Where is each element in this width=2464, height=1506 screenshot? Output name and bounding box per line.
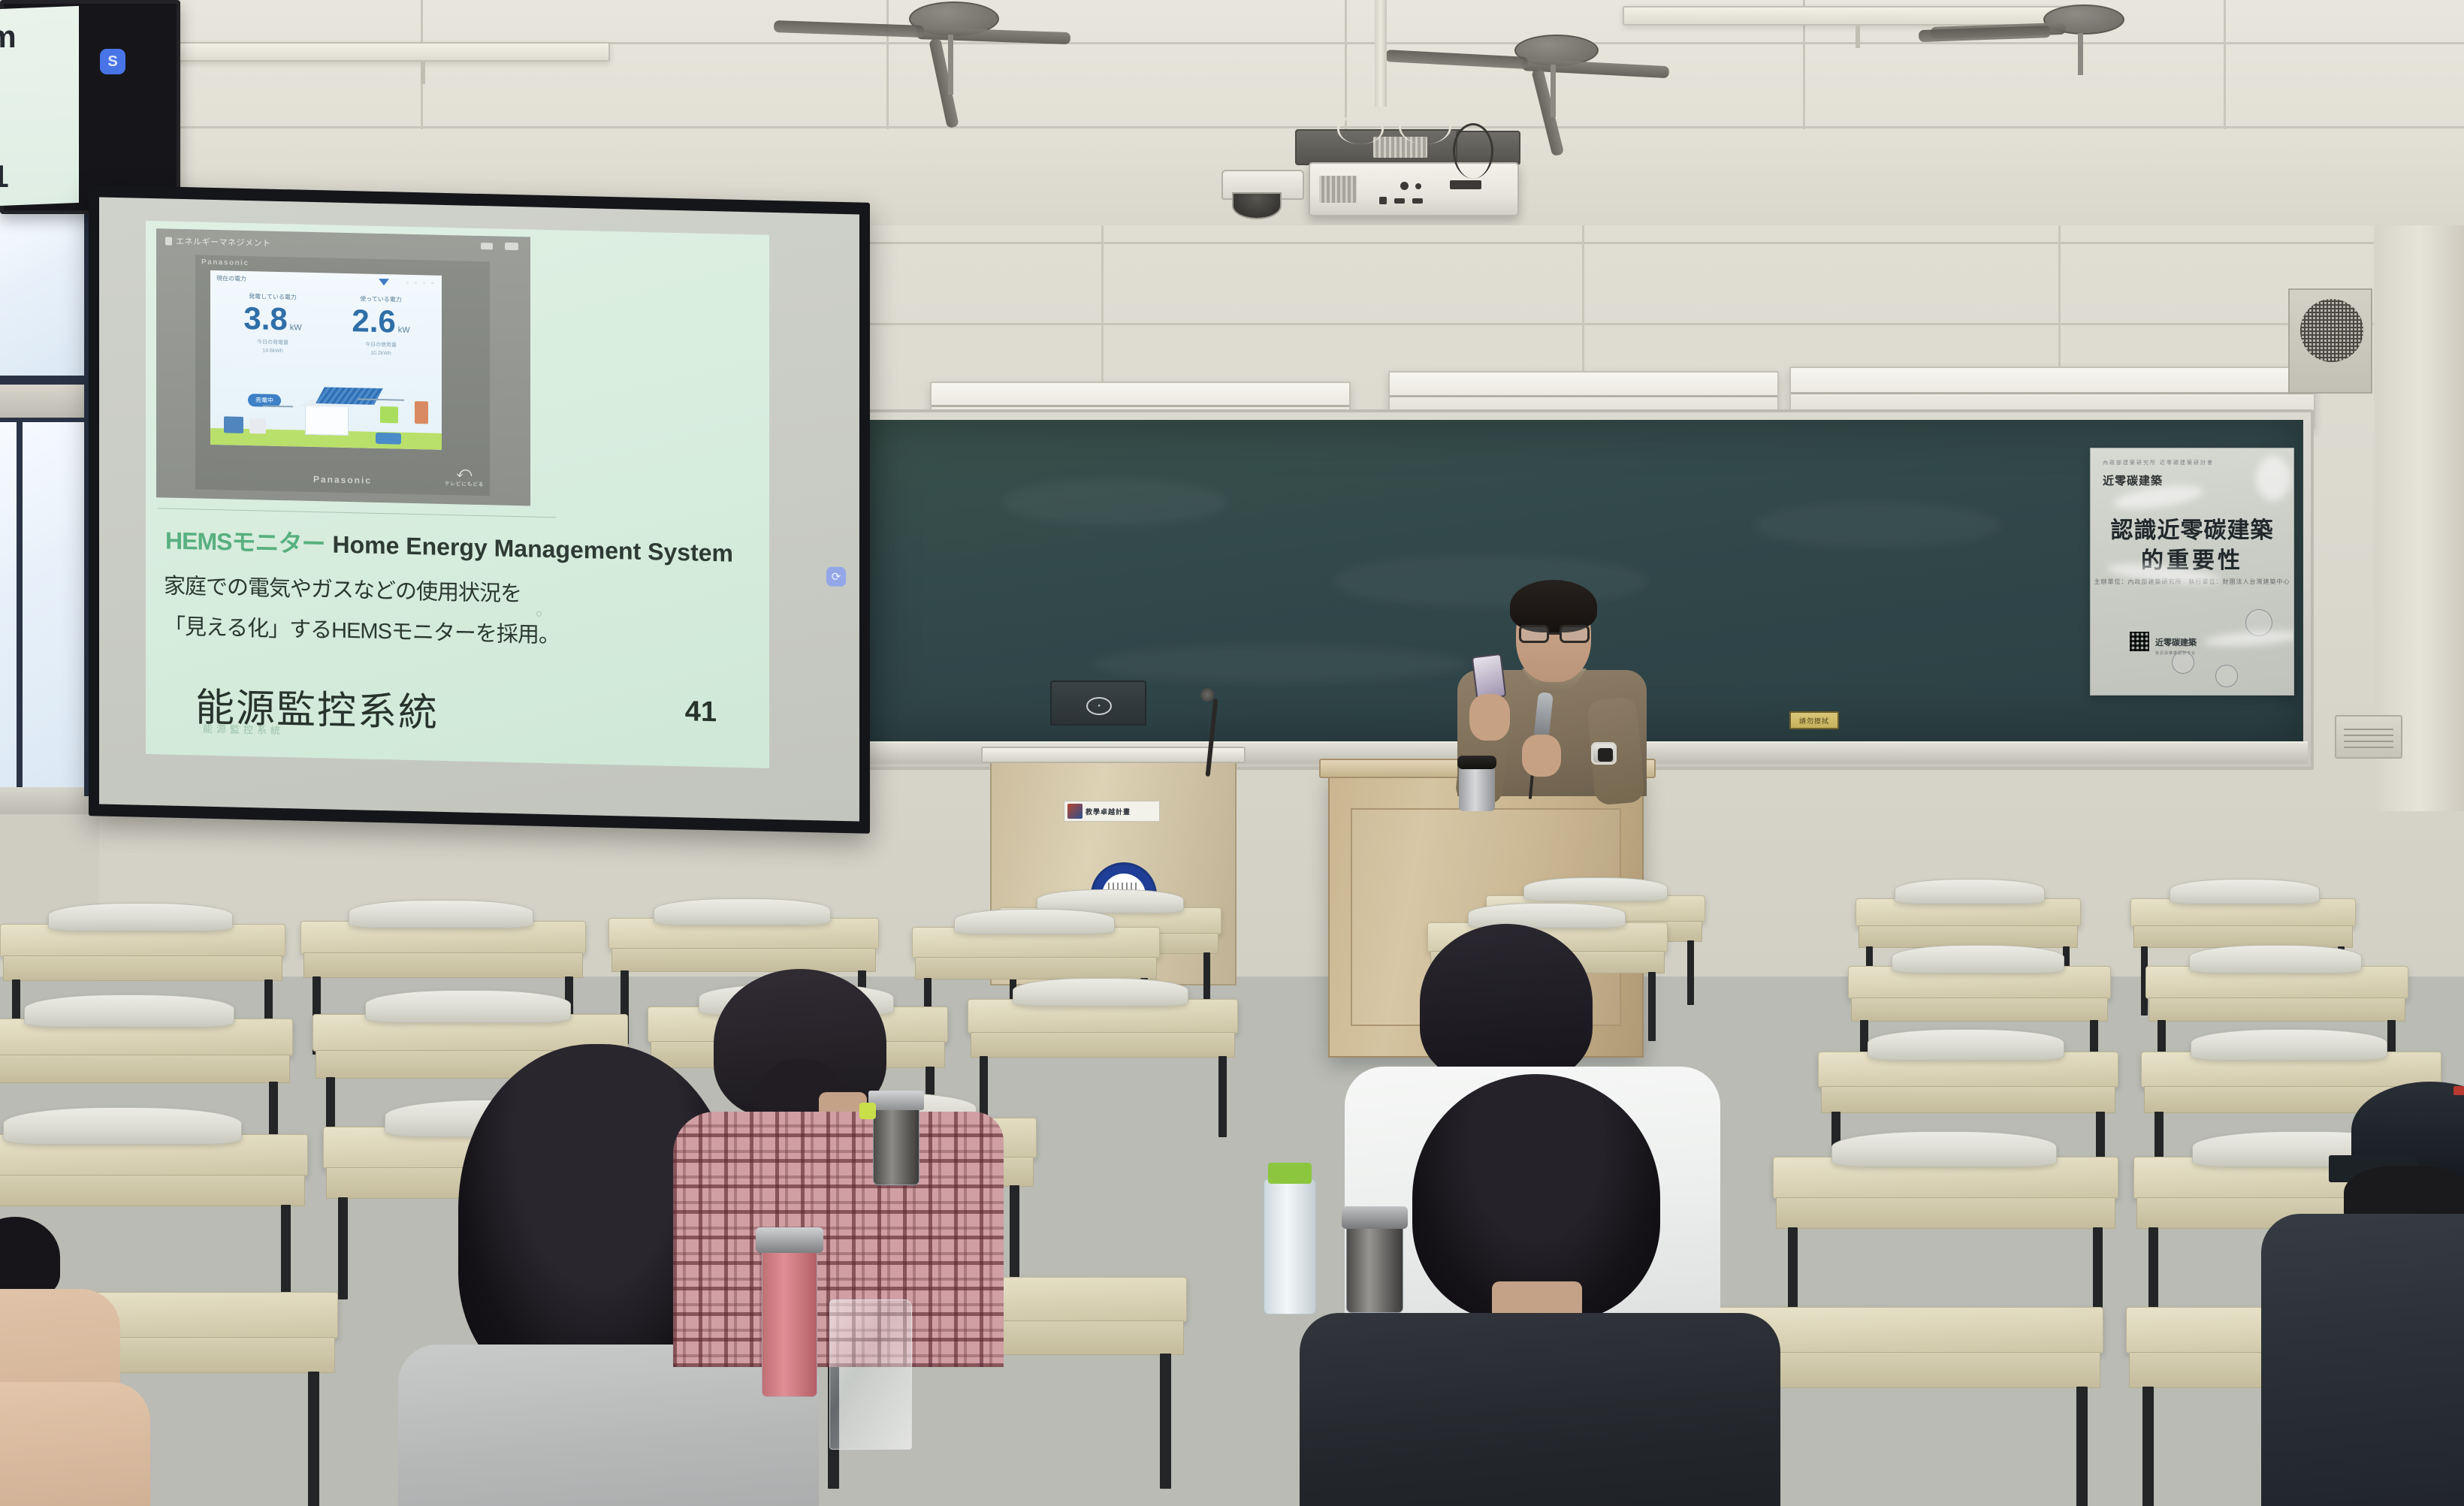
microphone-head-icon — [1200, 688, 1214, 702]
slide-body-line1: 家庭での電気やガスなどの使用状況を — [164, 568, 521, 608]
laptop-sticker-icon: ● — [1086, 697, 1112, 715]
projector-cable-white — [1337, 114, 1384, 144]
tumbler-lid — [756, 1227, 823, 1253]
projector-mount-pole — [1375, 0, 1387, 107]
laptop[interactable]: ● — [1050, 681, 1146, 726]
screen-app-badge[interactable]: ⟳ — [826, 566, 846, 587]
glasses-right-lens-icon — [1560, 625, 1590, 643]
panel-brand-top: Panasonic — [201, 258, 249, 267]
student-hair — [1420, 924, 1593, 1082]
slide-heading: HEMSモニターHome Energy Management System — [165, 522, 733, 569]
wall-seam — [856, 323, 2464, 325]
slide-bullet-dot — [536, 611, 542, 617]
bottle-carabiner — [859, 1103, 876, 1119]
student-torso — [398, 1345, 819, 1506]
ceiling-fan — [856, 0, 1179, 90]
light-bracket — [421, 62, 425, 84]
metric-generation: 発電している電力 3.8kW 今日の発電量14.6kWh — [216, 291, 329, 356]
bottle-cap-green — [1268, 1163, 1312, 1184]
solar-panel-icon — [316, 387, 383, 405]
ui-top-icons: ▫ ▫ ▫ ▫ — [406, 279, 436, 287]
podium-sticker-text: 教學卓越計畫 — [1086, 807, 1131, 816]
wall-monitor: em 41 S — [0, 0, 180, 214]
window-mullion — [17, 421, 23, 790]
lock-icon — [165, 237, 172, 245]
slide-page-number: 41 — [685, 696, 717, 729]
poster-near-zero-carbon: 內政部建築研究所 近零碳建築研討會 近零碳建築 認識近零碳建築 的重要性 主辦單… — [2090, 448, 2294, 696]
student-torso — [0, 1382, 150, 1506]
security-camera-dome-icon — [1232, 192, 1282, 219]
poster-tiny-header: 內政部建築研究所 近零碳建築研討會 — [2103, 459, 2214, 466]
projection-screen: エネルギーマネジメント Panasonic 現在の電力 ▫ ▫ ▫ ▫ — [89, 185, 870, 834]
side-desk-top — [981, 747, 1246, 763]
poster-seal-icon — [2215, 665, 2238, 687]
window-pane-lower — [0, 418, 90, 793]
wristwatch — [1591, 742, 1617, 765]
student-hair — [0, 1217, 60, 1298]
presentation-slide: エネルギーマネジメント Panasonic 現在の電力 ▫ ▫ ▫ ▫ — [146, 221, 769, 768]
blackboard-plaque: 請勿擦拭 — [1789, 711, 1839, 729]
lecture-hall-photo: 請勿擦拭 內政部建築研究所 近零碳建築研討會 近零碳建築 認識近零碳建築 的重要… — [0, 0, 2464, 1506]
plastic-bag — [829, 1299, 912, 1450]
ui-screen-title: 現在の電力 — [216, 274, 246, 283]
device-status-icons — [481, 242, 518, 250]
projector-cable-white — [1399, 110, 1451, 144]
presenter-hand-left — [1469, 694, 1510, 741]
monitor-text-fragment: em — [0, 19, 17, 55]
slide-heading-en: Home Energy Management System — [332, 531, 733, 567]
battery-icon — [481, 243, 493, 249]
app-icon[interactable]: S — [100, 49, 125, 74]
ceiling-fan — [1818, 0, 2133, 83]
ceiling-seam — [0, 126, 2464, 128]
hems-device-photo: エネルギーマネジメント Panasonic 現在の電力 ▫ ▫ ▫ ▫ — [156, 228, 530, 506]
podium-program-sticker: 教學卓越計畫 — [1064, 801, 1160, 822]
poster-logo-text: 近零碳建築 — [2155, 636, 2197, 648]
presenter-smartphone — [1472, 653, 1507, 700]
signal-icon — [505, 243, 518, 250]
student-torso — [2261, 1214, 2464, 1506]
qr-code-icon — [2130, 632, 2149, 651]
bottle-cap — [868, 1091, 924, 1110]
slide-divider — [158, 508, 556, 518]
program-logo-icon — [1067, 804, 1083, 819]
poster-seal-icon — [2172, 651, 2194, 674]
metric-consumption: 使っている電力 2.6kW 今日の使用量10.2kWh — [325, 294, 437, 358]
ceiling-fan — [1450, 15, 1765, 105]
slide-body-line2: 「見える化」するHEMSモニターを採用。 — [164, 608, 560, 649]
wall-control-box — [2335, 715, 2402, 759]
cap-badge-icon — [2453, 1086, 2464, 1095]
thermos — [1346, 1223, 1403, 1313]
water-bottle — [873, 1103, 919, 1185]
slide-ghost-text: 能源監控系統 — [203, 721, 284, 737]
student-torso — [1300, 1313, 1780, 1506]
window-pane-upper — [0, 207, 90, 380]
poster-kicker: 近零碳建築 — [2103, 472, 2163, 488]
slide-heading-jp: HEMSモニター — [165, 527, 325, 558]
presenter-tumbler — [1459, 766, 1495, 811]
thermos-lid — [1342, 1206, 1408, 1229]
screen-surface: エネルギーマネジメント Panasonic 現在の電力 ▫ ▫ ▫ ▫ — [99, 198, 859, 822]
wifi-icon — [379, 279, 389, 285]
hems-monitor-ui: 現在の電力 ▫ ▫ ▫ ▫ 発電している電力 3.8kW 今日の発電量14.6k… — [210, 270, 442, 450]
glasses-left-lens-icon — [1519, 625, 1549, 643]
ceiling-seam — [1345, 0, 1347, 129]
ceiling-seam — [2224, 0, 2226, 129]
monitor-page-fragment: 41 — [0, 158, 9, 195]
wall-speaker — [2288, 288, 2372, 394]
ceiling-light — [174, 42, 610, 62]
projector-cable — [1453, 123, 1493, 179]
house-diagram: 売電中 — [210, 385, 442, 450]
poster-title-line1: 認識近零碳建築 — [2091, 512, 2293, 545]
water-bottle — [1264, 1179, 1316, 1314]
presenter-hand-right — [1522, 735, 1561, 777]
wall-seam — [856, 242, 2464, 244]
device-titlebar: エネルギーマネジメント — [165, 235, 271, 249]
pink-tumbler — [762, 1247, 817, 1397]
panasonic-panel: Panasonic 現在の電力 ▫ ▫ ▫ ▫ 発電している電力 3.8kW 今… — [195, 255, 490, 496]
speaker-grille-icon — [2300, 299, 2363, 362]
glasses-bridge-icon — [1549, 632, 1560, 635]
